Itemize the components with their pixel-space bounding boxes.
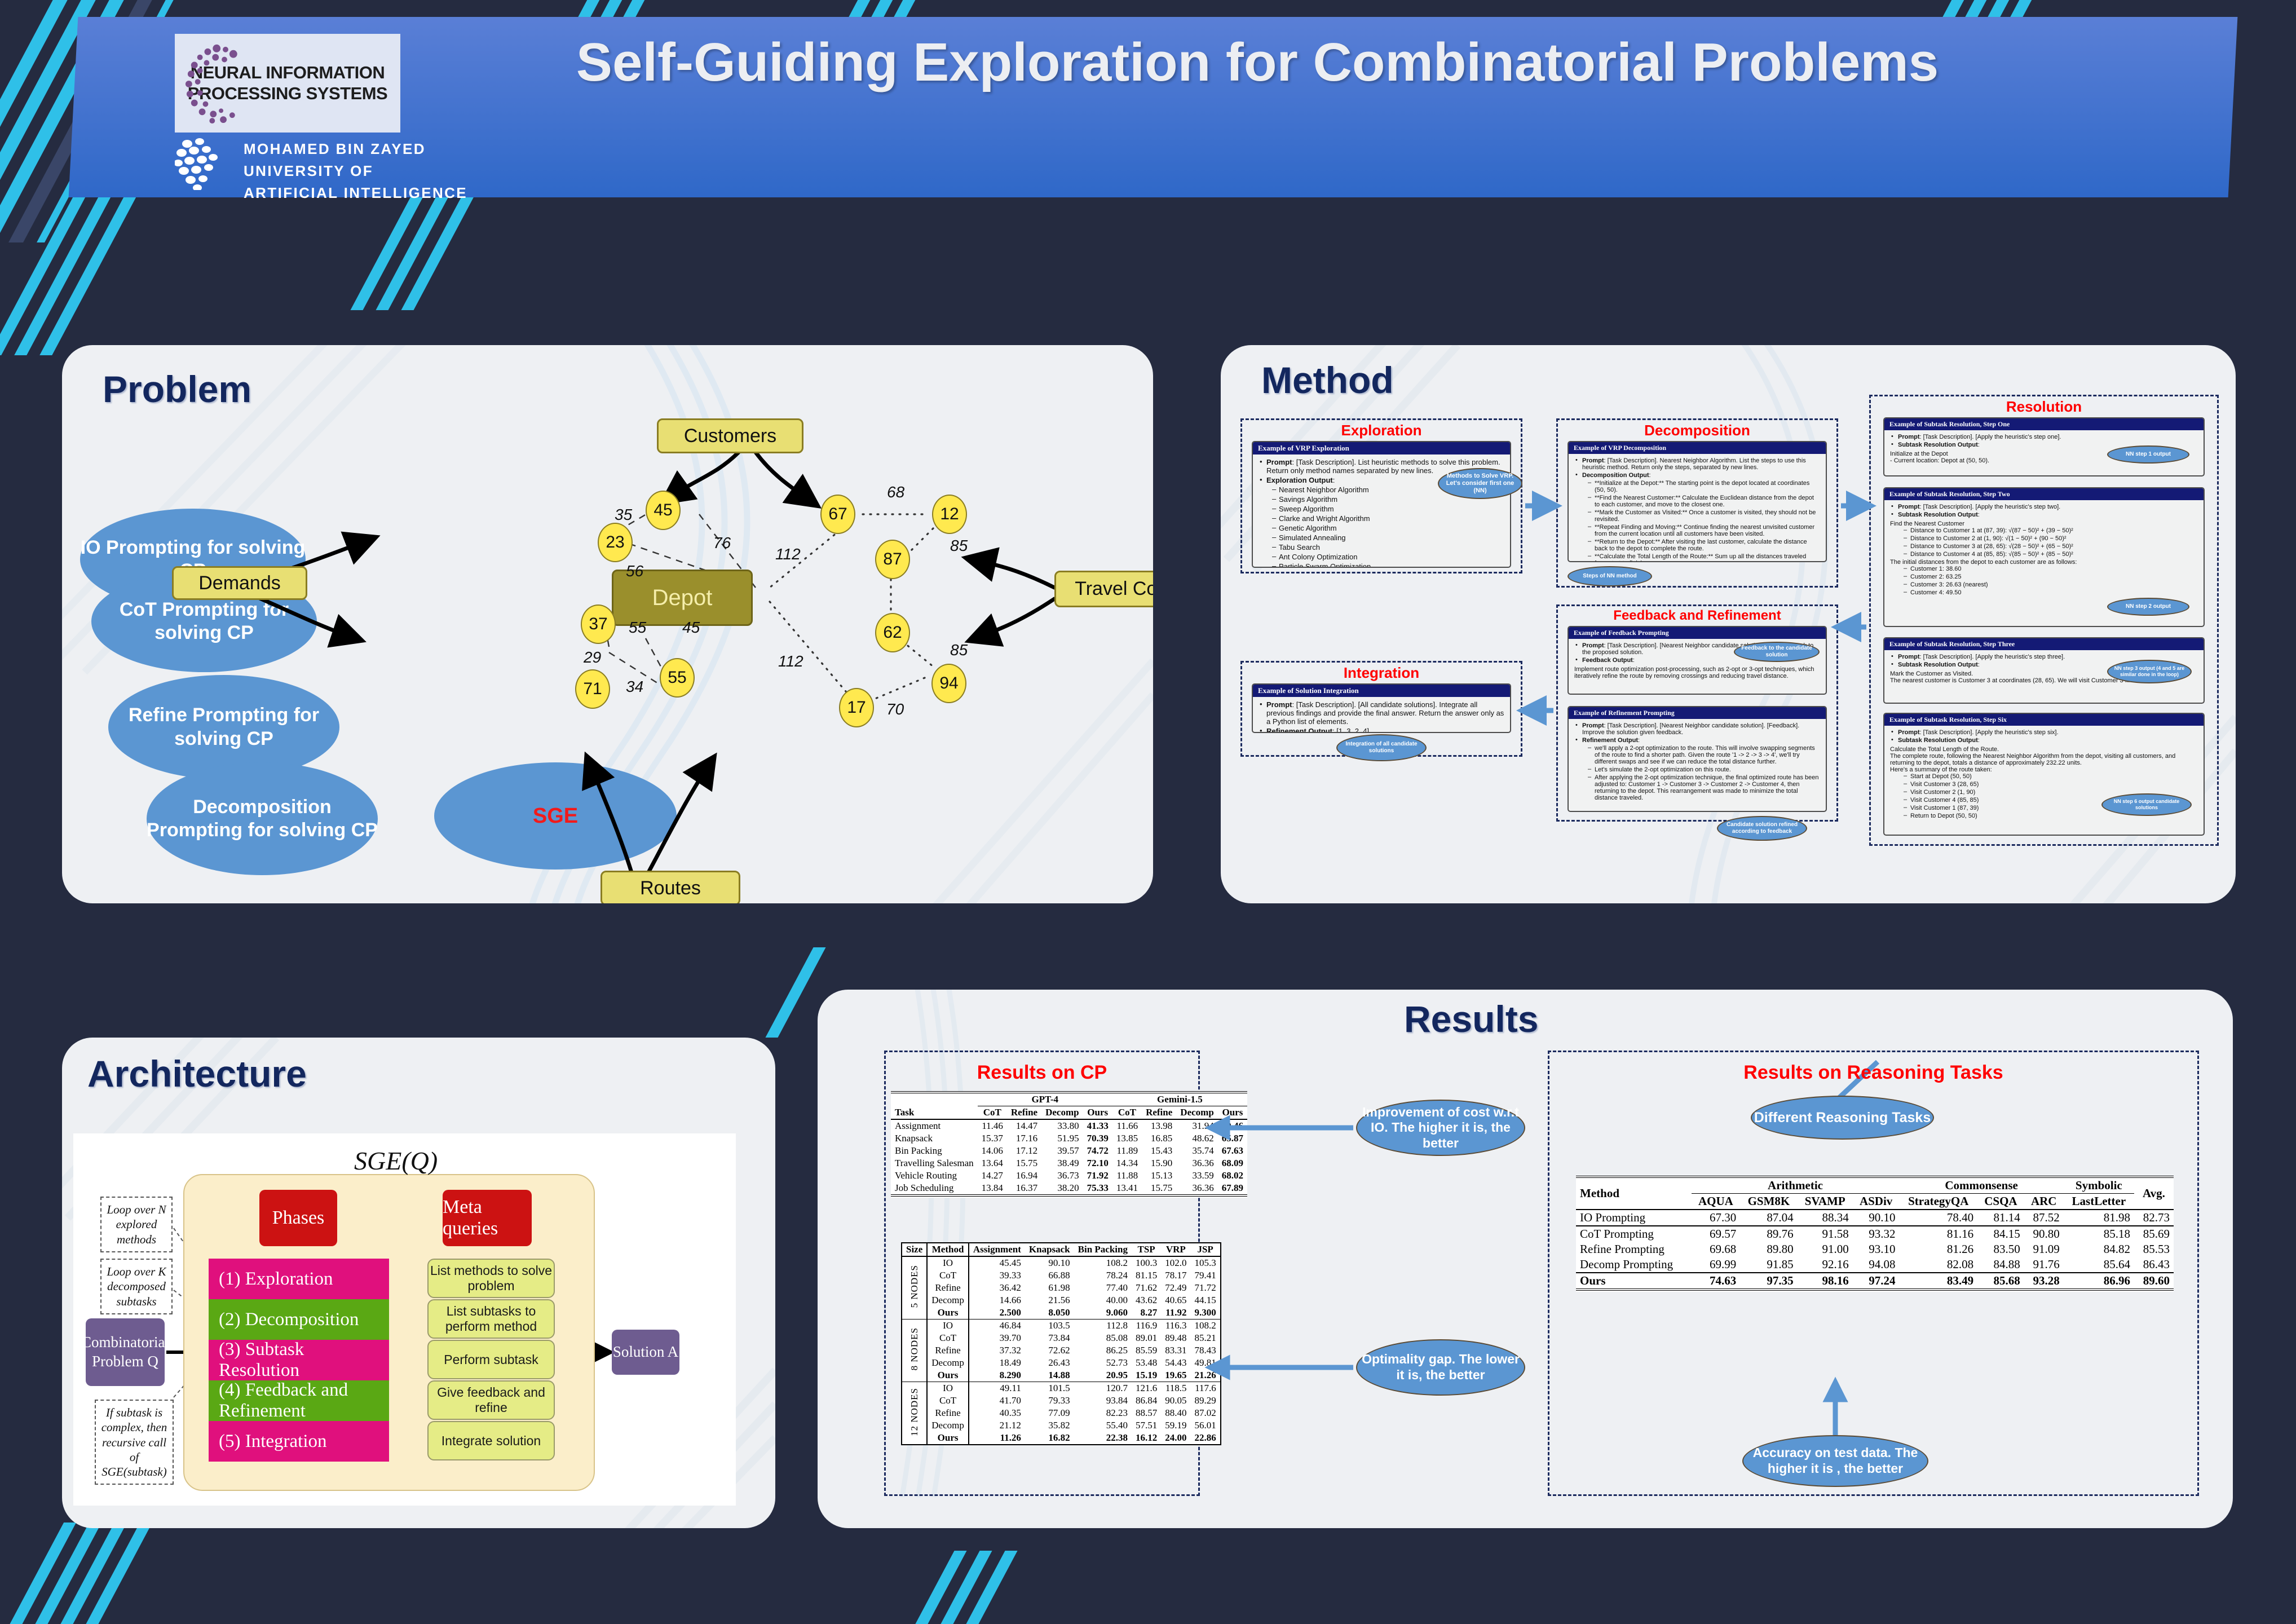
- table-cell: 11.89: [1112, 1145, 1142, 1157]
- table-cell: 15.43: [1142, 1145, 1176, 1157]
- table-cell: 82.73: [2134, 1210, 2174, 1226]
- exploration-example-box: Example of VRP Exploration Prompt: [Task…: [1252, 441, 1511, 568]
- box-title: Example of Subtask Resolution, Step One: [1884, 418, 2204, 430]
- customer-distance: Customer 2: 63.25: [1902, 573, 2198, 580]
- table-cell: 118.5: [1161, 1382, 1190, 1395]
- group-header-symbolic: Symbolic: [2064, 1177, 2134, 1194]
- table-cell: 14.47: [1007, 1119, 1041, 1132]
- resolution-step-two-lead: Find the Nearest Customer: [1890, 520, 2198, 527]
- table-cell: 108.2: [1074, 1256, 1132, 1269]
- table-cell: 90.10: [1853, 1210, 1900, 1226]
- col-size: Size: [902, 1243, 927, 1256]
- poster-header: NEURAL INFORMATION PROCESSING SYSTEMS: [69, 17, 2238, 197]
- decomposition-output-item: **Mark the Customer as Visited:** Once a…: [1587, 509, 1820, 523]
- results-cp-table-wrap: GPT-4 Gemini-1.5 Task CoT Refine Decomp …: [891, 1091, 1195, 1198]
- table-row: Decomp18.4926.4352.7353.4854.4349.81: [902, 1357, 1221, 1369]
- graph-node-37: 37: [581, 604, 616, 644]
- table-cell: 69.99: [1692, 1257, 1741, 1273]
- table-cell: 56.01: [1190, 1419, 1220, 1432]
- table-row: Bin Packing14.0617.1239.5774.7211.8915.4…: [891, 1145, 1247, 1157]
- decomposition-output-item: **Initialize at the Depot:** The startin…: [1587, 480, 1820, 493]
- table-cell: 90.80: [2024, 1226, 2064, 1242]
- table-cell: 98.16: [1798, 1273, 1853, 1290]
- results-card: Results Results on CP GPT-4 Gemini-1.5 T…: [818, 990, 2233, 1528]
- table-cell: 17.12: [1007, 1145, 1041, 1157]
- graph-node-55: 55: [660, 658, 695, 698]
- results-reasoning-table: Method Arithmetic Commonsense Symbolic A…: [1576, 1176, 2174, 1292]
- box-title: Example of Solution Integration: [1253, 685, 1510, 697]
- graph-box-label: Travel Costs: [1075, 578, 1153, 600]
- edge-label-70: 70: [886, 700, 904, 718]
- table-cell: 72.10: [1083, 1157, 1112, 1170]
- table-cell: 21.12: [969, 1419, 1025, 1432]
- graph-node-94: 94: [931, 664, 966, 703]
- table-row: Ours74.6397.3598.1697.2483.4985.6893.288…: [1576, 1273, 2174, 1290]
- table-cell: 15.75: [1007, 1157, 1041, 1170]
- table-cell: 14.34: [1112, 1157, 1142, 1170]
- output-label: Subtask Resolution Output: [1898, 511, 1978, 518]
- table-cell: 36.36: [1176, 1182, 1217, 1195]
- table-cell: 43.62: [1132, 1294, 1161, 1307]
- phase-label: (2) Decomposition: [219, 1309, 359, 1330]
- table-cell: 93.84: [1074, 1394, 1132, 1407]
- table-cell: 65.87: [1218, 1132, 1247, 1145]
- section-title-problem: Problem: [103, 368, 251, 411]
- prompt-text: : [Task Description]. [Apply the heurist…: [1920, 729, 2059, 736]
- table-cell: 35.82: [1025, 1419, 1074, 1432]
- table-cell: 120.7: [1074, 1382, 1132, 1395]
- table-cell: 22.86: [1190, 1432, 1220, 1445]
- table-row: Refine40.3577.0982.2388.5788.4087.02: [902, 1407, 1221, 1419]
- table-cell: 13.41: [1112, 1182, 1142, 1195]
- table-cell: 87.04: [1740, 1210, 1797, 1226]
- table-cell: 69.68: [1692, 1242, 1741, 1257]
- graph-box-demands: Demands: [172, 566, 307, 600]
- table-cell: 91.85: [1740, 1257, 1797, 1273]
- table-cell: 77.09: [1025, 1407, 1074, 1419]
- page-title: Self-Guiding Exploration for Combinatori…: [468, 29, 2047, 95]
- distance-item: Distance to Customer 3 at (28, 65): √(28…: [1902, 543, 2198, 550]
- table-cell: 89.60: [2134, 1273, 2174, 1290]
- callout-exploration: Methods to Solve VRP. Let's consider fir…: [1438, 468, 1522, 499]
- col-jsp: JSP: [1190, 1243, 1220, 1256]
- graph-node-62: 62: [875, 613, 910, 652]
- meta-query-list-subtasks: List subtasks to perform method: [427, 1299, 555, 1339]
- table-cell: 81.98: [2064, 1210, 2134, 1226]
- results-cp-body: Assignment11.4614.4733.8041.3311.6613.98…: [891, 1119, 1247, 1198]
- table-row: Job Scheduling13.8416.3738.2075.3313.411…: [891, 1182, 1247, 1195]
- problem-card: Problem IO Prompting for solving CP CoT …: [62, 345, 1153, 903]
- note-recursive-call: If subtask is complex, then recursive ca…: [95, 1400, 174, 1485]
- exploration-output-item: Ant Colony Optimization: [1271, 553, 1504, 561]
- graph-node-67: 67: [820, 495, 855, 534]
- table-cell: 31.94: [1176, 1119, 1217, 1132]
- table-bottom-rule: [891, 1195, 1247, 1198]
- table-cell: 13.84: [978, 1182, 1007, 1195]
- callout-nn-step3: NN step 3 output (4 and 5 are similar do…: [2107, 660, 2192, 683]
- table-row: Decomp14.6621.5640.0043.6240.6544.15: [902, 1294, 1221, 1307]
- col-svamp: SVAMP: [1798, 1194, 1853, 1210]
- table-cell: 72.62: [1025, 1344, 1074, 1357]
- graph-box-label: Demands: [198, 572, 281, 594]
- group-header-gpt4: GPT-4: [978, 1092, 1112, 1106]
- callout-optimality-gap: Optimality gap. The lower it is, the bet…: [1356, 1339, 1525, 1396]
- table-cell: 100.3: [1132, 1256, 1161, 1269]
- results-size-table-wrap: Size Method Assignment Knapsack Bin Pack…: [901, 1242, 1190, 1445]
- customer-distance: Customer 1: 38.60: [1902, 566, 2198, 572]
- table-row: Ours2.5008.0509.0608.2711.929.300: [902, 1307, 1221, 1319]
- method-label: Decomp: [927, 1419, 969, 1432]
- node-label: 71: [583, 679, 602, 699]
- edge-label-85-top: 85: [950, 537, 968, 555]
- distance-item: Distance to Customer 1 at (87, 39): √(87…: [1902, 527, 2198, 534]
- node-label: 37: [589, 615, 607, 634]
- col-cot-gpt4: CoT: [978, 1106, 1007, 1120]
- phase-decomposition: (2) Decomposition: [209, 1299, 389, 1340]
- table-cell: 68.02: [1218, 1170, 1247, 1182]
- edge-label-35: 35: [615, 506, 632, 524]
- table-cell: 16.94: [1007, 1170, 1041, 1182]
- node-label: 94: [939, 674, 958, 693]
- callout-refinement: Candidate solution refined according to …: [1717, 816, 1807, 841]
- callout-nn-step1: NN step 1 output: [2107, 445, 2189, 464]
- table-cell: 49.11: [969, 1382, 1025, 1395]
- row-label: Job Scheduling: [891, 1182, 978, 1195]
- results-reasoning-caption: Results on Reasoning Tasks: [1548, 1062, 2199, 1084]
- note-loop-over-k: Loop over K decomposed subtasks: [100, 1259, 173, 1314]
- table-cell: 53.48: [1132, 1357, 1161, 1369]
- table-cell: 71.62: [1132, 1282, 1161, 1294]
- phase-label: (1) Exploration: [219, 1269, 333, 1290]
- col-refine-gpt4: Refine: [1007, 1106, 1041, 1120]
- phase-label: (3) Subtask Resolution: [219, 1339, 389, 1381]
- table-cell: 14.06: [978, 1145, 1007, 1157]
- table-cell: 79.33: [1025, 1394, 1074, 1407]
- mbzuai-line3: ARTIFICIAL INTELLIGENCE: [244, 182, 467, 204]
- box-title: Example of Feedback Prompting: [1569, 627, 1826, 639]
- table-cell: 85.64: [2064, 1257, 2134, 1273]
- method-label: Refine: [927, 1344, 969, 1357]
- table-cell: 59.19: [1161, 1419, 1190, 1432]
- table-cell: 69.57: [1692, 1226, 1741, 1242]
- phase-label: (5) Integration: [219, 1431, 327, 1452]
- table-cell: 13.85: [1112, 1132, 1142, 1145]
- table-cell: 94.08: [1853, 1257, 1900, 1273]
- box-title: Example of Subtask Resolution, Step Two: [1884, 488, 2204, 500]
- table-cell: 66.88: [1025, 1269, 1074, 1282]
- table-cell: 87.02: [1190, 1407, 1220, 1419]
- feedback-output-body: Implement route optimization post-proces…: [1574, 666, 1820, 679]
- architecture-figure: SGE(Q) Phases Meta queries (1) Explorati…: [73, 1133, 736, 1506]
- table-cell: 15.13: [1142, 1170, 1176, 1182]
- phase-integration: (5) Integration: [209, 1421, 389, 1462]
- table-cell: 8.290: [969, 1369, 1025, 1382]
- table-cell: 77.40: [1074, 1282, 1132, 1294]
- table-cell: 14.66: [969, 1294, 1025, 1307]
- method-label: IO: [927, 1319, 969, 1332]
- table-row: Travelling Salesman13.6415.7538.4972.101…: [891, 1157, 1247, 1170]
- table-bottom-rule: [1576, 1290, 2174, 1292]
- prompt-label: Prompt: [1898, 504, 1920, 510]
- table-cell: 55.40: [1074, 1419, 1132, 1432]
- col-assignment: Assignment: [969, 1243, 1025, 1256]
- prompt-text: : [Task Description]. [Nearest Neighbor …: [1582, 722, 1799, 736]
- prompt-label: Prompt: [1582, 457, 1604, 464]
- table-cell: 45.45: [969, 1256, 1025, 1269]
- method-title-decomposition: Decomposition: [1556, 422, 1838, 439]
- table-cell: 116.9: [1132, 1319, 1161, 1332]
- graph-box-label: Routes: [640, 877, 701, 899]
- table-cell: 86.96: [2064, 1273, 2134, 1290]
- table-cell: 9.300: [1190, 1307, 1220, 1319]
- col-method: Method: [927, 1243, 969, 1256]
- graph-node-23: 23: [598, 523, 633, 562]
- table-cell: 38.20: [1041, 1182, 1083, 1195]
- refinement-output-item: Let's simulate the 2-opt optimization on…: [1587, 766, 1820, 773]
- table-cell: 81.16: [1899, 1226, 1977, 1242]
- route-step: Visit Customer 3 (28, 65): [1902, 781, 2198, 788]
- table-cell: 71.92: [1083, 1170, 1112, 1182]
- table-cell: 85.59: [1132, 1344, 1161, 1357]
- box-title: Example of Subtask Resolution, Step Thre…: [1884, 638, 2204, 650]
- table-cell: 67.30: [1692, 1210, 1741, 1226]
- table-cell: 16.82: [1025, 1432, 1074, 1445]
- prompt-label: Prompt: [1582, 722, 1604, 729]
- input-combinatorial-problem: Combinatorial Problem Q: [86, 1318, 165, 1386]
- table-cell: 16.12: [1132, 1432, 1161, 1445]
- table-cell: 105.3: [1190, 1256, 1220, 1269]
- col-arc: ARC: [2024, 1194, 2064, 1210]
- box-title: Example of VRP Decomposition: [1569, 442, 1826, 454]
- table-cell: 83.31: [1161, 1344, 1190, 1357]
- callout-integration: Integration of all candidate solutions: [1336, 734, 1427, 761]
- meta-query-perform-subtask: Perform subtask: [427, 1340, 555, 1379]
- mbzuai-line1: MOHAMED BIN ZAYED: [244, 138, 467, 160]
- table-cell: 8.27: [1132, 1307, 1161, 1319]
- table-cell: 93.32: [1853, 1226, 1900, 1242]
- table-row: 8 NODESIO46.84103.5112.8116.9116.3108.2: [902, 1319, 1221, 1332]
- table-cell: 81.14: [1977, 1210, 2024, 1226]
- table-cell: 78.40: [1899, 1210, 1977, 1226]
- output-label: Subtask Resolution Output: [1898, 737, 1978, 744]
- method-title-feedback: Feedback and Refinement: [1556, 608, 1838, 624]
- size-group-label: 12 NODES: [902, 1382, 927, 1445]
- node-label: 12: [940, 505, 959, 524]
- col-method: Method: [1576, 1177, 1692, 1210]
- table-cell: 97.35: [1740, 1273, 1797, 1290]
- decomposition-output-item: **Return to the Depot:** After visiting …: [1587, 539, 1820, 552]
- table-cell: 83.50: [1977, 1242, 2024, 1257]
- method-card: Method Exploration Example of VRP Explor…: [1221, 345, 2236, 903]
- output-label: Refinement Output: [1582, 737, 1638, 744]
- edge-label-56: 56: [626, 562, 643, 580]
- section-title-method: Method: [1261, 359, 1394, 401]
- output-solution: Solution A: [612, 1330, 679, 1375]
- table-cell: 37.32: [969, 1344, 1025, 1357]
- col-refine-gemini: Refine: [1142, 1106, 1176, 1120]
- table-cell: 26.43: [1025, 1357, 1074, 1369]
- table-cell: 61.98: [1025, 1282, 1074, 1294]
- mbzuai-logo: MOHAMED BIN ZAYED UNIVERSITY OF ARTIFICI…: [175, 138, 467, 204]
- table-cell: 89.80: [1740, 1242, 1797, 1257]
- exploration-output-item: Particle Swarm Optimization: [1271, 562, 1504, 568]
- edge-label-29: 29: [584, 648, 601, 667]
- table-cell: 91.09: [2024, 1242, 2064, 1257]
- row-label: Decomp Prompting: [1576, 1257, 1692, 1273]
- poster-root: NEURAL INFORMATION PROCESSING SYSTEMS: [0, 0, 2296, 1624]
- table-cell: 33.80: [1041, 1119, 1083, 1132]
- table-cell: 88.57: [1132, 1407, 1161, 1419]
- table-cell: 78.24: [1074, 1269, 1132, 1282]
- col-binpacking: Bin Packing: [1074, 1243, 1132, 1256]
- table-cell: 57.51: [1132, 1419, 1161, 1432]
- method-label: Decomp: [927, 1294, 969, 1307]
- row-label: Assignment: [891, 1119, 978, 1132]
- table-cell: 36.73: [1041, 1170, 1083, 1182]
- graph-box-routes: Routes: [601, 871, 740, 903]
- table-cell: 93.10: [1853, 1242, 1900, 1257]
- node-label: 17: [847, 698, 866, 717]
- table-cell: 88.40: [1161, 1407, 1190, 1419]
- prompt-label: Prompt: [1266, 700, 1292, 709]
- decomposition-output-item: **Repeat Finding and Moving:** Continue …: [1587, 524, 1820, 537]
- results-size-table: Size Method Assignment Knapsack Bin Pack…: [901, 1242, 1221, 1445]
- table-row: CoT39.7073.8485.0889.0189.4885.21: [902, 1332, 1221, 1344]
- graph-box-customers: Customers: [657, 418, 803, 453]
- table-cell: 88.34: [1798, 1210, 1853, 1226]
- table-row: Decomp21.1235.8255.4057.5159.1956.01: [902, 1419, 1221, 1432]
- row-label: Bin Packing: [891, 1145, 978, 1157]
- node-label: 45: [654, 501, 672, 520]
- phase-exploration: (1) Exploration: [209, 1259, 389, 1299]
- table-cell: 13.64: [978, 1157, 1007, 1170]
- refinement-output-item: After applying the 2-opt optimization te…: [1587, 774, 1820, 801]
- distance-item: Distance to Customer 4 at (85, 85): √(85…: [1902, 551, 2198, 558]
- group-header-commonsense: Commonsense: [1899, 1177, 2063, 1194]
- output-label: Subtask Resolution Output: [1898, 661, 1978, 668]
- col-ours-gemini: Ours: [1218, 1106, 1247, 1120]
- method-label: Refine: [927, 1407, 969, 1419]
- exploration-output-item: Genetic Algorithm: [1271, 524, 1504, 532]
- edge-label-76: 76: [713, 534, 731, 552]
- row-label: Ours: [1576, 1273, 1692, 1290]
- output-label: Subtask Resolution Output: [1898, 442, 1978, 448]
- col-task: Task: [891, 1106, 978, 1120]
- box-title: Example of Refinement Prompting: [1569, 707, 1826, 719]
- table-cell: 121.6: [1132, 1382, 1161, 1395]
- table-cell: 67.89: [1218, 1182, 1247, 1195]
- table-cell: 93.28: [2024, 1273, 2064, 1290]
- node-label: 55: [668, 668, 686, 687]
- decomposition-output-item: **Find the Nearest Customer:** Calculate…: [1587, 495, 1820, 508]
- row-label: Vehicle Routing: [891, 1170, 978, 1182]
- table-cell: 41.70: [969, 1394, 1025, 1407]
- table-row: Knapsack15.3717.1651.9570.3913.8516.8548…: [891, 1132, 1247, 1145]
- table-cell: 44.15: [1190, 1294, 1220, 1307]
- table-row: Decomp Prompting69.9991.8592.1694.0882.0…: [1576, 1257, 2174, 1273]
- decomposition-output-item: **Calculate the Total Length of the Rout…: [1587, 553, 1820, 562]
- edge-label-34: 34: [626, 678, 643, 696]
- table-cell: 14.27: [978, 1170, 1007, 1182]
- output-label: Decomposition Output: [1582, 472, 1649, 479]
- prompt-text: : [Task Description]. [Apply the heurist…: [1920, 434, 2061, 440]
- table-cell: 83.49: [1899, 1273, 1977, 1290]
- row-label: Knapsack: [891, 1132, 978, 1145]
- table-cell: 11.88: [1112, 1170, 1142, 1182]
- output-label: Exploration Output: [1266, 476, 1333, 484]
- table-cell: 89.01: [1132, 1332, 1161, 1344]
- method-label: Ours: [927, 1432, 969, 1445]
- prompt-label: Prompt: [1898, 434, 1920, 440]
- prompt-label: Prompt: [1582, 642, 1604, 649]
- mbzuai-network-icon: [175, 138, 231, 190]
- prompt-text: : [Task Description]. [Apply the heurist…: [1920, 654, 2065, 660]
- method-label: CoT: [927, 1394, 969, 1407]
- table-cell: 116.3: [1161, 1319, 1190, 1332]
- table-cell: 90.05: [1161, 1394, 1190, 1407]
- method-title-integration: Integration: [1240, 664, 1522, 682]
- table-row: Refine Prompting69.6889.8091.0093.1081.2…: [1576, 1242, 2174, 1257]
- prompt-text: : [Task Description]. [Apply the heurist…: [1920, 504, 2061, 510]
- table-cell: 89.29: [1190, 1394, 1220, 1407]
- table-cell: 38.49: [1041, 1157, 1083, 1170]
- meta-query-give-feedback: Give feedback and refine: [427, 1380, 555, 1420]
- table-cell: 22.38: [1074, 1432, 1132, 1445]
- table-row: Refine37.3272.6286.2585.5983.3178.43: [902, 1344, 1221, 1357]
- table-cell: 108.2: [1190, 1319, 1220, 1332]
- neurips-dots-icon: [183, 42, 267, 125]
- callout-improvement-of-cost: Improvement of cost w.r.t IO. The higher…: [1356, 1100, 1525, 1156]
- table-cell: 68.09: [1218, 1157, 1247, 1170]
- table-cell: 84.15: [1977, 1226, 2024, 1242]
- col-vrp: VRP: [1161, 1243, 1190, 1256]
- table-cell: 40.46: [1218, 1119, 1247, 1132]
- table-cell: 84.82: [2064, 1242, 2134, 1257]
- table-cell: 85.53: [2134, 1242, 2174, 1257]
- table-row: Vehicle Routing14.2716.9436.7371.9211.88…: [891, 1170, 1247, 1182]
- edge-label-68: 68: [887, 483, 904, 501]
- table-cell: 18.49: [969, 1357, 1025, 1369]
- col-cot-gemini: CoT: [1112, 1106, 1142, 1120]
- graph-node-87: 87: [875, 540, 910, 579]
- method-title-exploration: Exploration: [1240, 422, 1522, 439]
- table-cell: 85.08: [1074, 1332, 1132, 1344]
- method-label: Decomp: [927, 1357, 969, 1369]
- graph-box-label: Depot: [652, 585, 713, 611]
- row-label: IO Prompting: [1576, 1210, 1692, 1226]
- table-row: IO Prompting67.3087.0488.3490.1078.4081.…: [1576, 1210, 2174, 1226]
- edge-label-55: 55: [629, 619, 646, 637]
- table-cell: 85.18: [2064, 1226, 2134, 1242]
- table-cell: 103.5: [1025, 1319, 1074, 1332]
- sge-q-label: SGE(Q): [354, 1146, 438, 1176]
- table-cell: 73.84: [1025, 1332, 1074, 1344]
- table-cell: 85.69: [2134, 1226, 2174, 1242]
- table-cell: 82.23: [1074, 1407, 1132, 1419]
- exploration-output-item: Tabu Search: [1271, 543, 1504, 551]
- table-cell: 21.56: [1025, 1294, 1074, 1307]
- table-cell: 70.39: [1083, 1132, 1112, 1145]
- table-cell: 48.62: [1176, 1132, 1217, 1145]
- table-cell: 86.43: [2134, 1257, 2174, 1273]
- section-title-results: Results: [1404, 998, 1538, 1040]
- table-cell: 36.36: [1176, 1157, 1217, 1170]
- callout-nn-step6: NN step 6 output candidate solutions: [2101, 793, 2192, 816]
- table-cell: 85.68: [1977, 1273, 2024, 1290]
- graph-node-71: 71: [575, 669, 610, 709]
- prompt-label: Prompt: [1898, 654, 1920, 660]
- callout-accuracy-on-test-data: Accuracy on test data. The higher it is …: [1742, 1435, 1928, 1487]
